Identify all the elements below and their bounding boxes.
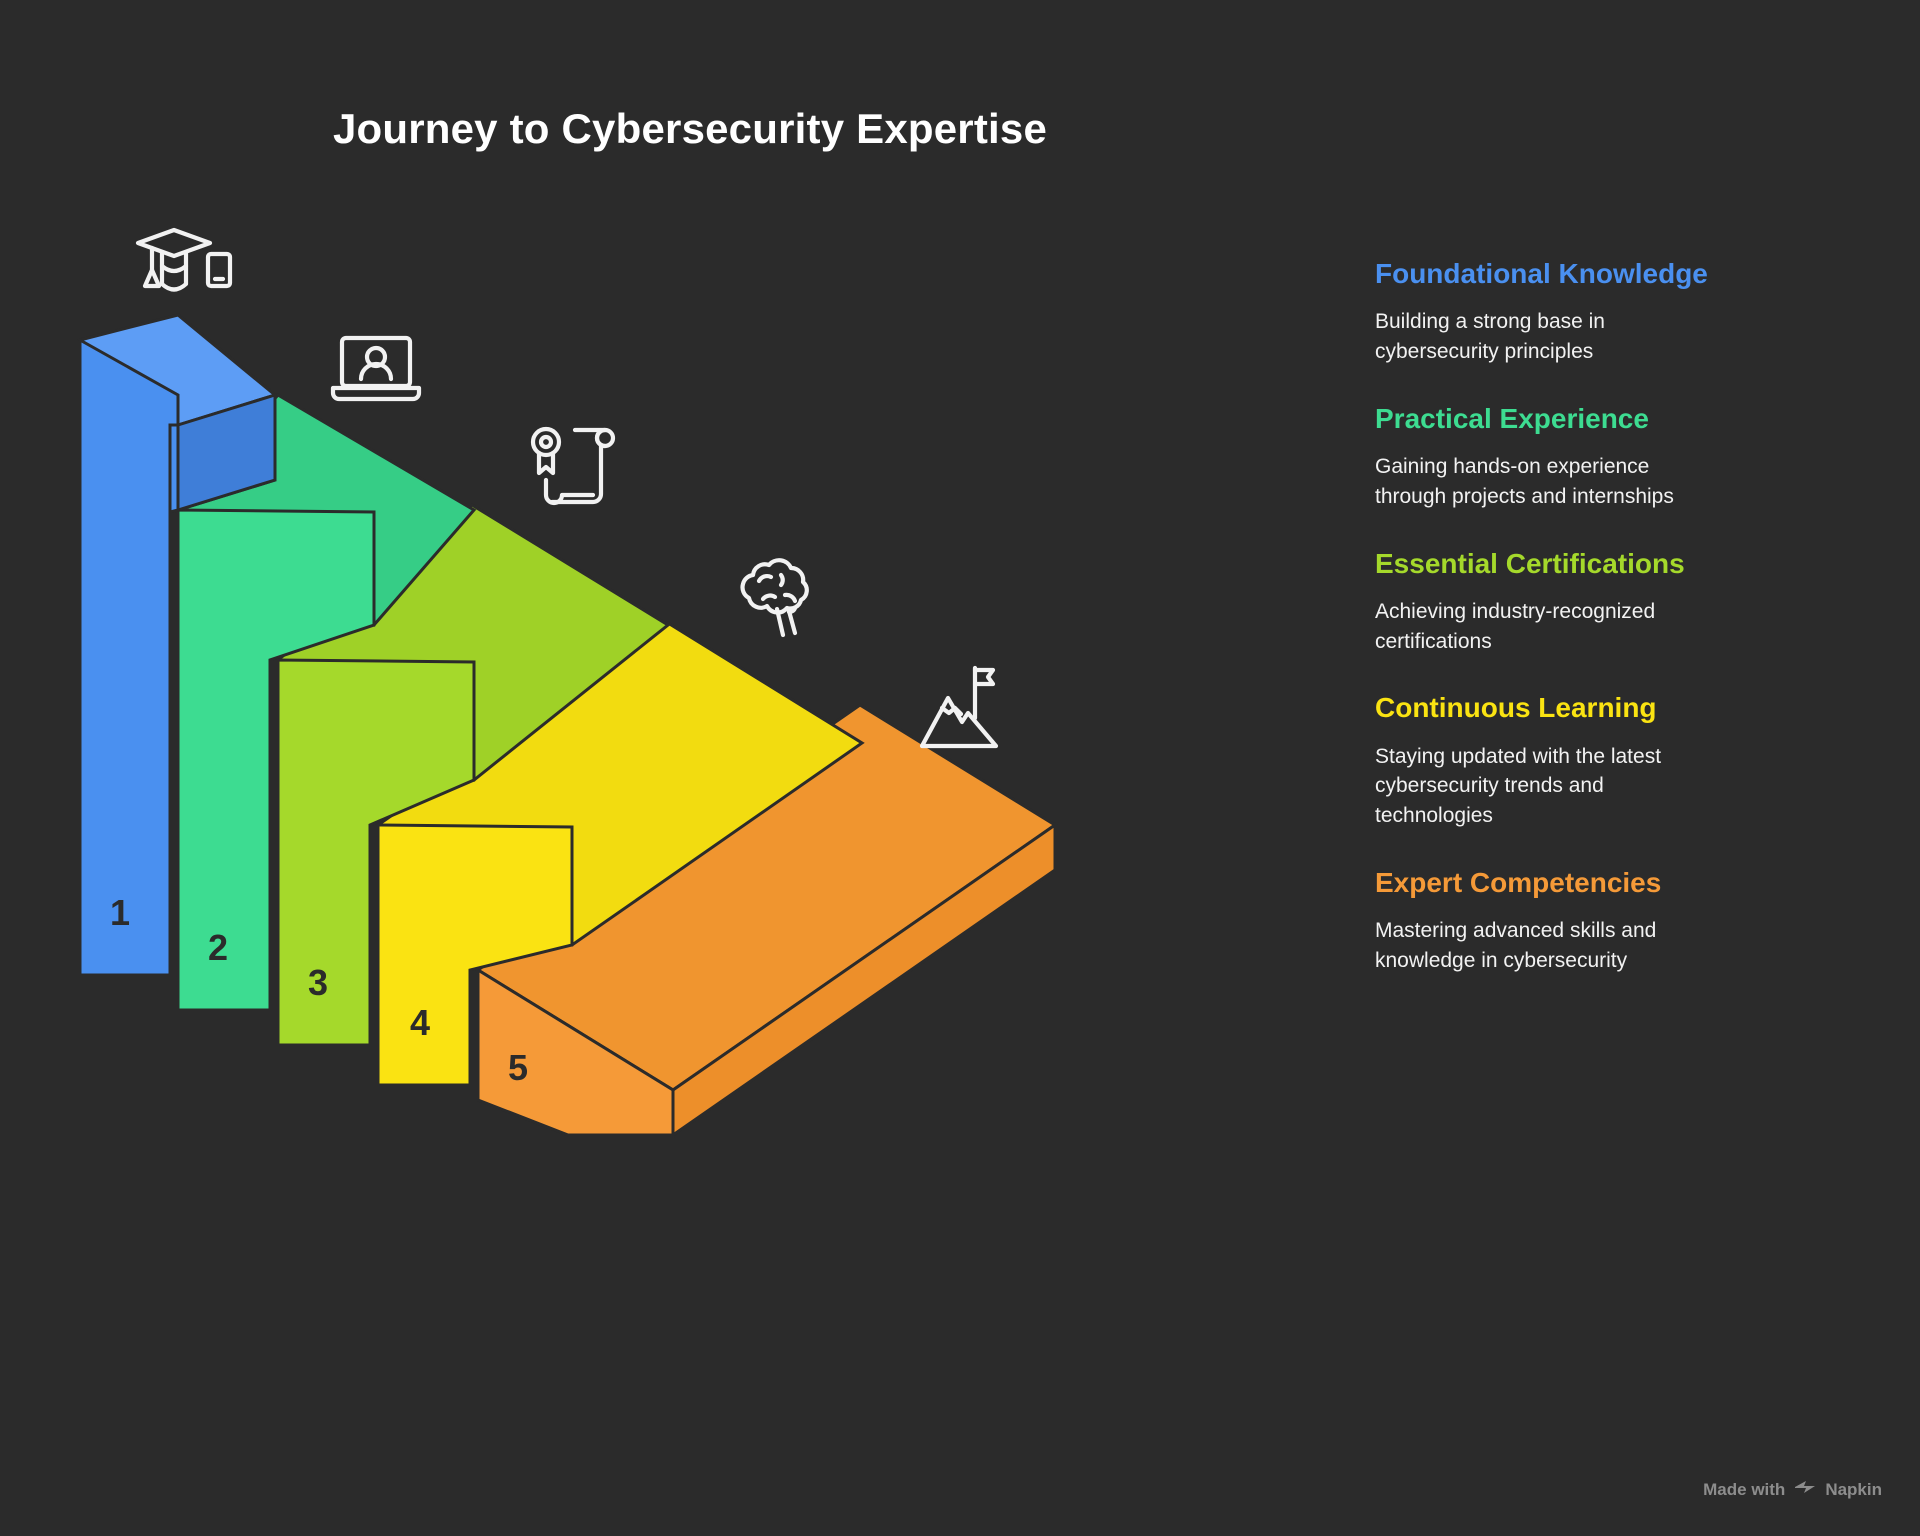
- laptop-person-icon: [328, 333, 424, 405]
- detail-heading: Expert Competencies: [1375, 867, 1845, 899]
- step-number-3: 3: [308, 962, 328, 1003]
- graduation-cap-icon: [134, 208, 234, 303]
- detail-body: Achieving industry-recognized certificat…: [1375, 597, 1845, 657]
- detail-item-foundational-knowledge: Foundational Knowledge Building a strong…: [1375, 258, 1845, 367]
- watermark-brand: Napkin: [1825, 1480, 1882, 1500]
- detail-item-practical-experience: Practical Experience Gaining hands-on ex…: [1375, 403, 1845, 512]
- detail-item-essential-certifications: Essential Certifications Achieving indus…: [1375, 548, 1845, 657]
- step-number-1: 1: [110, 892, 130, 933]
- detail-heading: Continuous Learning: [1375, 692, 1845, 724]
- step-number-2: 2: [208, 927, 228, 968]
- detail-body: Mastering advanced skills and knowledge …: [1375, 916, 1845, 976]
- detail-heading: Essential Certifications: [1375, 548, 1845, 580]
- details-list: Foundational Knowledge Building a strong…: [1375, 258, 1845, 976]
- step-number-5: 5: [508, 1047, 528, 1088]
- watermark: Made with Napkin: [1703, 1480, 1882, 1500]
- step-number-4: 4: [410, 1002, 430, 1043]
- napkin-logo-icon: [1794, 1481, 1816, 1499]
- detail-item-expert-competencies: Expert Competencies Mastering advanced s…: [1375, 867, 1845, 976]
- detail-body: Staying updated with the latest cybersec…: [1375, 742, 1845, 831]
- mountain-flag-icon: [918, 660, 1000, 754]
- detail-body: Building a strong base in cybersecurity …: [1375, 307, 1845, 367]
- detail-heading: Foundational Knowledge: [1375, 258, 1845, 290]
- detail-body: Gaining hands-on experience through proj…: [1375, 452, 1845, 512]
- detail-heading: Practical Experience: [1375, 403, 1845, 435]
- detail-item-continuous-learning: Continuous Learning Staying updated with…: [1375, 692, 1845, 831]
- brain-icon: [723, 553, 819, 639]
- certificate-scroll-icon: [527, 425, 617, 515]
- watermark-text: Made with: [1703, 1480, 1785, 1500]
